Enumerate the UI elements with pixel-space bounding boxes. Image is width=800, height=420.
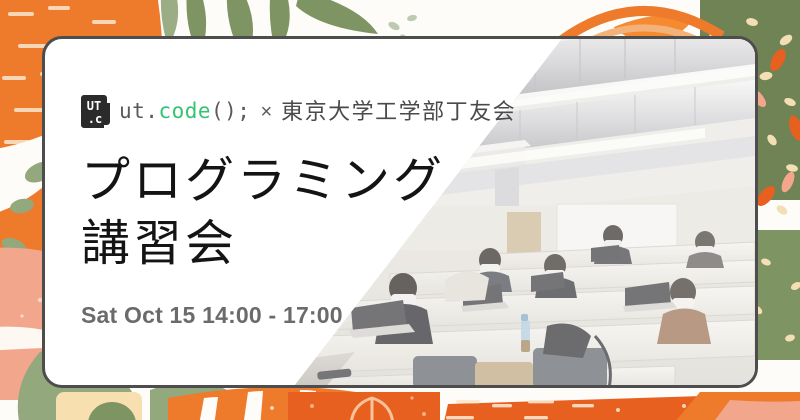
brand-code-suffix: (); bbox=[211, 99, 250, 123]
classroom-photo bbox=[295, 39, 755, 385]
brand-code-prefix: ut. bbox=[119, 99, 158, 123]
brand-code-highlight: code bbox=[158, 99, 211, 123]
brand-separator-icon: × bbox=[260, 102, 272, 122]
organization-name: 東京大学工学部丁友会 bbox=[281, 101, 516, 123]
brand-line: UT .c ut.code(); × 東京大学工学部丁友会 bbox=[81, 95, 516, 128]
event-poster: UT .c ut.code(); × 東京大学工学部丁友会 プログラミング 講習… bbox=[0, 0, 800, 420]
svg-text:.c: .c bbox=[88, 112, 102, 126]
brand-code-text: ut.code(); bbox=[119, 101, 250, 122]
utcode-logo-icon: UT .c bbox=[81, 95, 110, 128]
poster-card: UT .c ut.code(); × 東京大学工学部丁友会 プログラミング 講習… bbox=[42, 36, 758, 388]
svg-text:UT: UT bbox=[87, 99, 101, 113]
